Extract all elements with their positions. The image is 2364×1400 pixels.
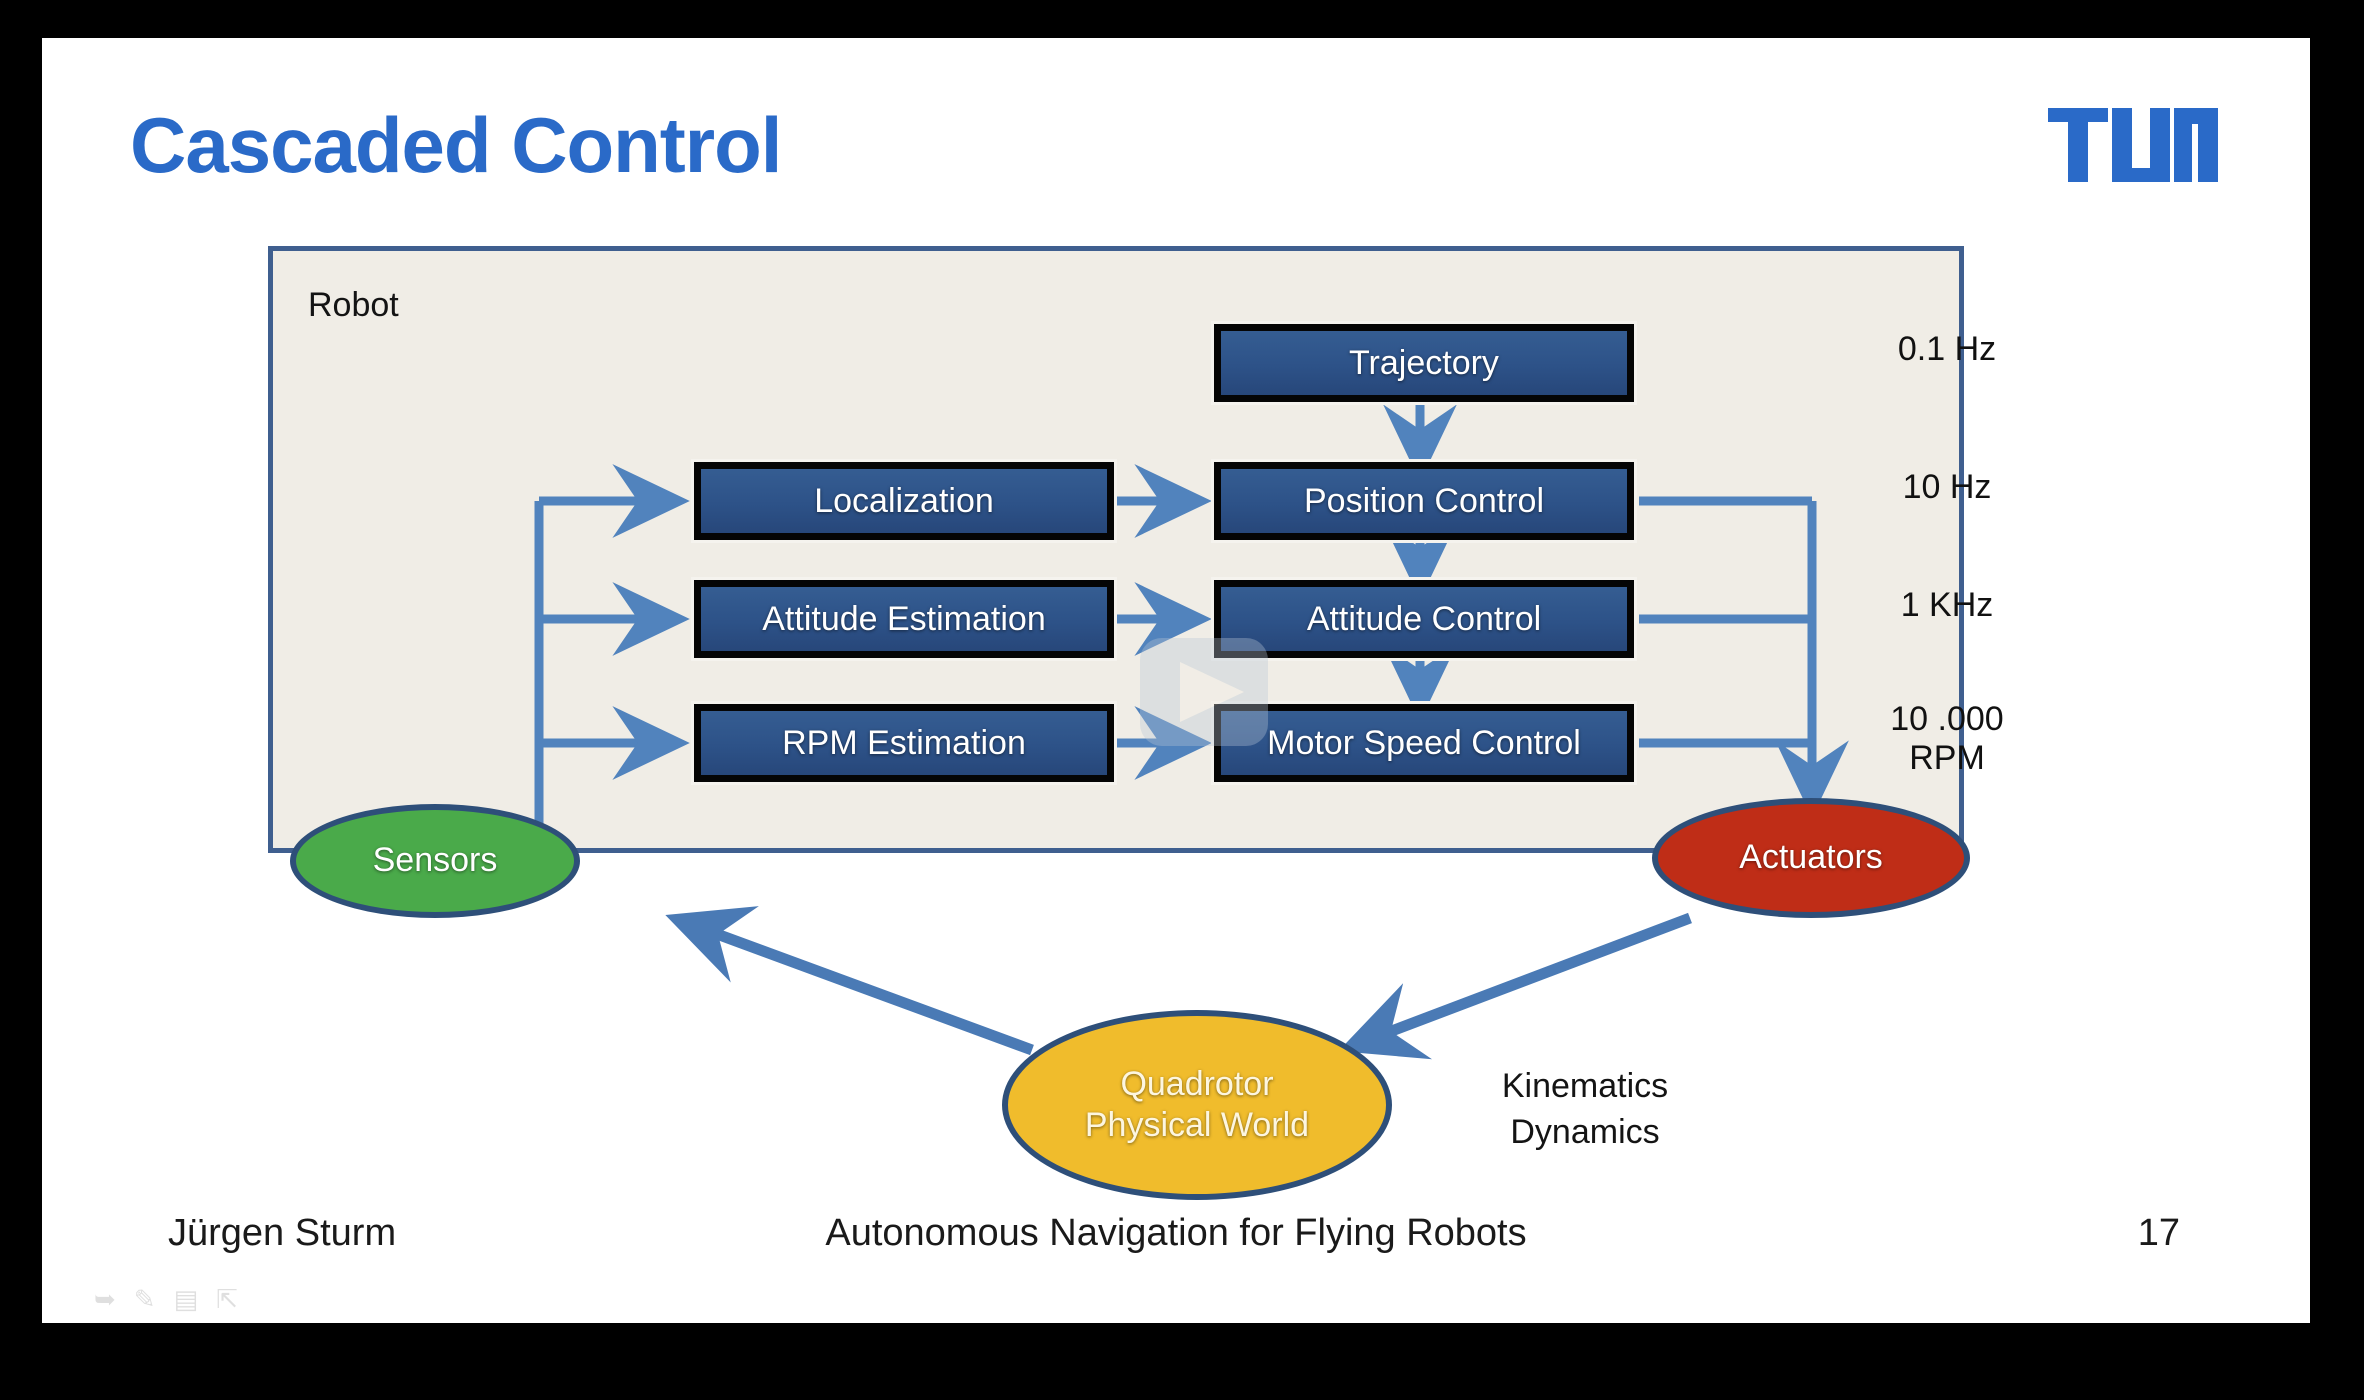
screen: Cascaded Control Robot — [0, 0, 2364, 1362]
footer-page-number: 17 — [2138, 1212, 2180, 1255]
box-motor-speed-control[interactable]: Motor Speed Control — [1214, 704, 1634, 782]
footer-course: Autonomous Navigation for Flying Robots — [42, 1212, 2310, 1255]
node-sensors[interactable]: Sensors — [290, 804, 580, 918]
rate-label-position: 10 Hz — [1832, 468, 2062, 507]
tum-logo-icon — [2046, 106, 2220, 184]
rate-label-motor: 10 .000 RPM — [1832, 700, 2062, 779]
box-attitude-estimation[interactable]: Attitude Estimation — [694, 580, 1114, 658]
node-actuators[interactable]: Actuators — [1652, 798, 1970, 918]
annotation-line1: Kinematics — [1440, 1064, 1730, 1110]
pointer-icon[interactable]: ➥ — [94, 1284, 116, 1315]
robot-container-label: Robot — [308, 286, 399, 325]
kinematics-annotation: Kinematics Dynamics — [1440, 1064, 1730, 1156]
box-position-control[interactable]: Position Control — [1214, 462, 1634, 540]
node-quadrotor[interactable]: Quadrotor Physical World — [1002, 1010, 1392, 1200]
cursor-icon[interactable]: ⇱ — [216, 1284, 238, 1315]
box-rpm-estimation[interactable]: RPM Estimation — [694, 704, 1114, 782]
quadrotor-line1: Quadrotor — [1085, 1064, 1309, 1105]
page-title: Cascaded Control — [130, 100, 781, 191]
play-button-icon[interactable] — [1140, 638, 1268, 746]
quadrotor-line2: Physical World — [1085, 1105, 1309, 1146]
slide-canvas: Cascaded Control Robot — [42, 38, 2310, 1323]
box-localization[interactable]: Localization — [694, 462, 1114, 540]
presenter-toolbar[interactable]: ➥ ✎ ▤ ⇱ — [94, 1284, 238, 1315]
rate-label-trajectory: 0.1 Hz — [1832, 330, 2062, 369]
annotation-line2: Dynamics — [1440, 1110, 1730, 1156]
menu-icon[interactable]: ▤ — [174, 1284, 199, 1315]
pen-icon[interactable]: ✎ — [134, 1284, 156, 1315]
robot-container — [268, 246, 1964, 853]
box-trajectory[interactable]: Trajectory — [1214, 324, 1634, 402]
rate-label-attitude: 1 KHz — [1832, 586, 2062, 625]
box-attitude-control[interactable]: Attitude Control — [1214, 580, 1634, 658]
